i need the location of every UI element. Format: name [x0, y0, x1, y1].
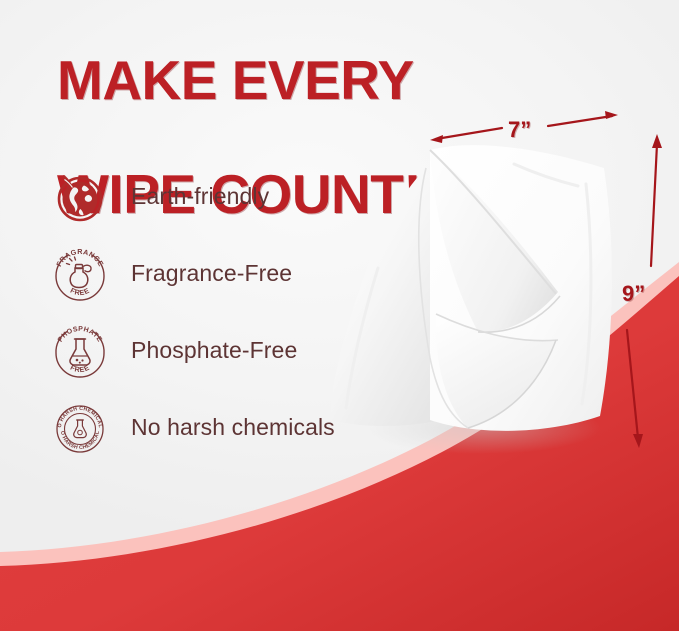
product-infographic: MAKE EVERY WIPE COUNT! Earth-friendly — [0, 0, 679, 631]
feature-label: No harsh chemicals — [131, 414, 335, 441]
badge-top-text: PHOSPHATE — [57, 325, 103, 343]
no-harsh-chemicals-badge-icon: · NO HARSH CHEMICALS · · NO HARSH CHEMIC… — [48, 396, 112, 460]
phosphate-free-badge-icon: PHOSPHATE FREE — [48, 319, 112, 383]
fragrance-free-badge-icon: FRAGRANCE FREE — [48, 242, 112, 306]
dimension-width-label: 7” — [508, 117, 531, 143]
headline-line-1: MAKE EVERY — [57, 49, 414, 111]
dimension-height-label: 9” — [622, 281, 645, 307]
svg-text:PHOSPHATE: PHOSPHATE — [57, 325, 103, 343]
badge-bottom-text: · NO HARSH CHEMICALS · — [48, 396, 101, 451]
product-image-wipe — [318, 128, 638, 458]
feature-label: Earth-friendly — [131, 183, 269, 210]
feature-label: Phosphate-Free — [131, 337, 297, 364]
svg-text:· NO HARSH CHEMICALS ·: · NO HARSH CHEMICALS · — [48, 396, 101, 451]
feature-label: Fragrance-Free — [131, 260, 292, 287]
earth-globe-leaf-icon — [48, 165, 112, 229]
